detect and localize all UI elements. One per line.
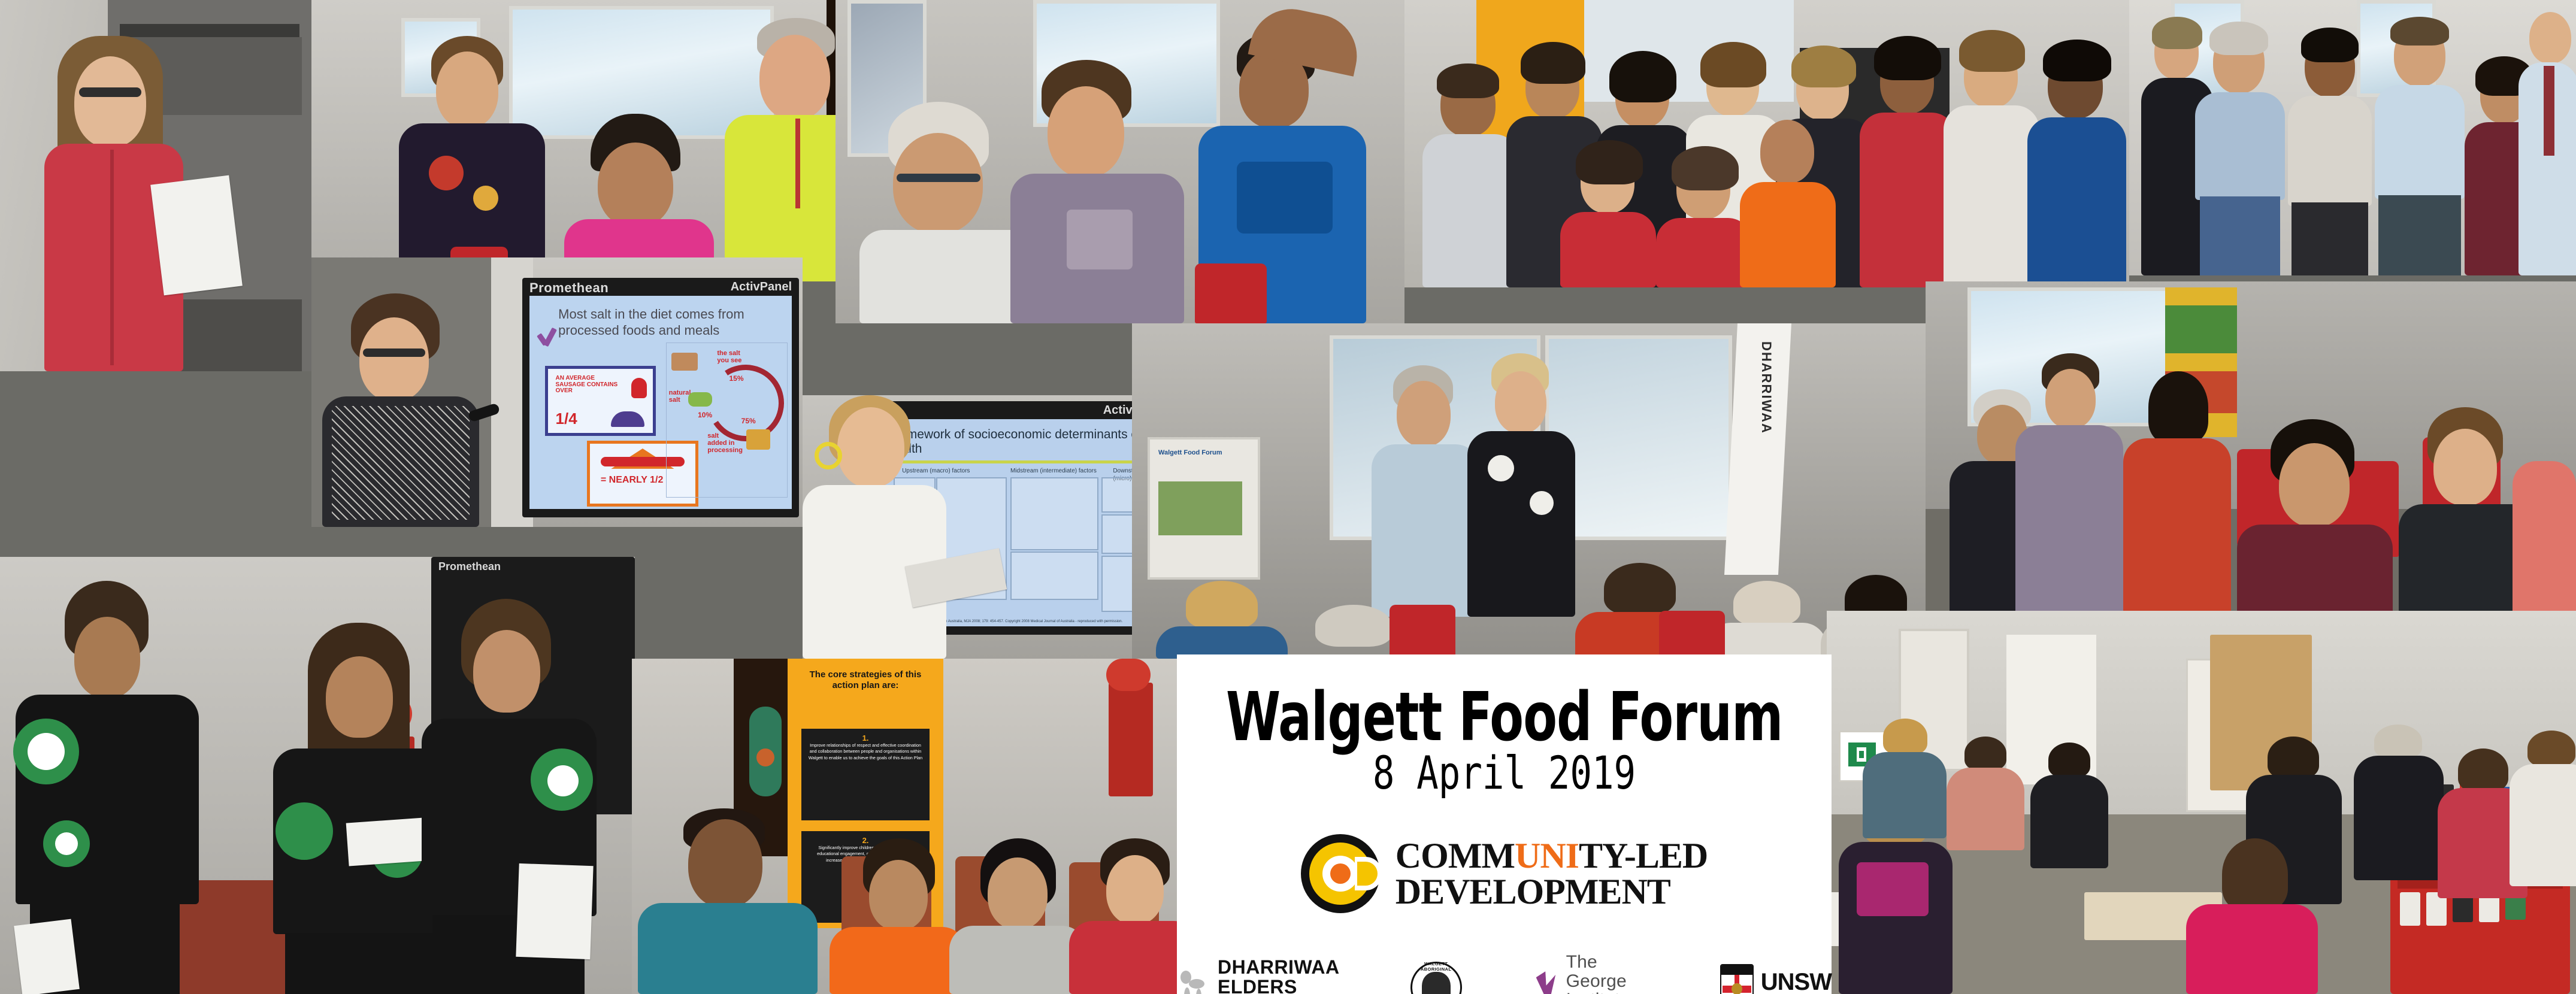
george-institute-leaf-icon — [1533, 969, 1559, 994]
cld-word-highlight: UNI — [1515, 836, 1579, 875]
photo-audience-listening-1 — [311, 0, 910, 281]
salt-slide-content: Most salt in the diet comes from process… — [529, 296, 792, 509]
poster-item-1-number: 1. — [807, 734, 923, 743]
unsw-line-1: UNSW — [1761, 971, 1832, 994]
partner-logo-unsw-sydney: UNSW SYDNEY — [1720, 964, 1832, 994]
dharriwaa-line-2: ELDERS GROUP — [1218, 977, 1340, 994]
dharriwaa-emu-icon — [1177, 968, 1210, 994]
photo-presenter-determinants-slide: ActivPanel Framework of socioeconomic de… — [803, 395, 1174, 659]
cld-wordmark: COMMUNITY-LED DEVELOPMENT — [1396, 838, 1708, 910]
photo-presenter-salt-slide: Promethean ActivPanel Most salt in the d… — [311, 257, 803, 527]
photo-seated-audience-red-chairs — [1926, 281, 2576, 617]
salt-slide-title: Most salt in the diet comes from process… — [558, 307, 779, 339]
photo-workshop-room-overview — [1827, 611, 2576, 994]
dharriwaa-line-1: DHARRIWAA — [1218, 957, 1340, 978]
photo-group-portrait-large — [1404, 0, 2129, 287]
poster-item-1: 1. Improve relationships of respect and … — [801, 729, 929, 820]
photo-woman-reading-statement — [0, 0, 311, 371]
partner-logo-the-george-institute: The George Institute for Global Health — [1533, 953, 1649, 994]
partner-logo-dharriwaa-elders-group: DHARRIWAA ELDERS GROUP — [1177, 957, 1340, 994]
food-forum-flyer-text: Walgett Food Forum — [1158, 449, 1249, 456]
page-title: Walgett Food Forum — [1226, 683, 1783, 751]
community-led-development-logo: COMMUNITY-LED DEVELOPMENT — [1301, 834, 1708, 913]
activpanel-brand-label: ActivPanel — [731, 280, 792, 294]
salt-slide-screen: Promethean ActivPanel Most salt in the d… — [522, 278, 799, 517]
unsw-crest-icon — [1720, 964, 1754, 994]
event-title-card: Walgett Food Forum 8 April 2019 COMMUNIT… — [1177, 654, 1832, 994]
cld-word-part-1: COMM — [1396, 836, 1515, 875]
photo-dharriwaa-youth-speakers: Promethean ABE POWDER — [0, 557, 635, 994]
event-banner: Promethean ActivPanel Most salt in the d… — [0, 0, 2576, 994]
cld-word-part-2: TY-LED — [1579, 836, 1708, 875]
photo-seated-row-action-plan-poster: The core strategies of this action plan … — [632, 659, 1198, 994]
promethean-brand-label: Promethean — [529, 280, 609, 296]
column-label-midstream: Midstream (intermediate) factors — [1010, 467, 1097, 475]
event-date: 8 April 2019 — [1373, 749, 1636, 797]
poster-title: The core strategies of this action plan … — [797, 669, 934, 691]
poster-item-1-text: Improve relationships of respect and eff… — [807, 743, 923, 761]
partner-logo-walgett-aboriginal-medical-service: WALGETT ABORIGINAL MEDICAL SERVICE LIMIT… — [1410, 962, 1462, 994]
wams-arc-top: WALGETT ABORIGINAL — [1410, 961, 1462, 972]
photo-audience-listening-2 — [836, 0, 1404, 323]
photo-room-discussion-standing: Walgett Food Forum DHARRIWAA — [1132, 323, 1929, 659]
cld-target-icon — [1301, 834, 1380, 913]
photo-group-portrait-stakeholders — [2129, 0, 2576, 275]
salt-card-sausage: AN AVERAGE SAUSAGE CONTAINS OVER 1/4 — [545, 366, 656, 436]
george-institute-line-1: The George Institute — [1566, 953, 1649, 994]
partner-logo-row: DHARRIWAA ELDERS GROUP WALGETT ABORIGINA… — [1177, 953, 1832, 994]
salt-pie-chart: the saltyou see 15% naturalsalt 10% 75% … — [666, 343, 788, 497]
wams-roundel-icon: WALGETT ABORIGINAL MEDICAL SERVICE LIMIT… — [1410, 962, 1462, 994]
cld-word-line-2: DEVELOPMENT — [1396, 874, 1708, 910]
tick-icon — [537, 328, 558, 348]
